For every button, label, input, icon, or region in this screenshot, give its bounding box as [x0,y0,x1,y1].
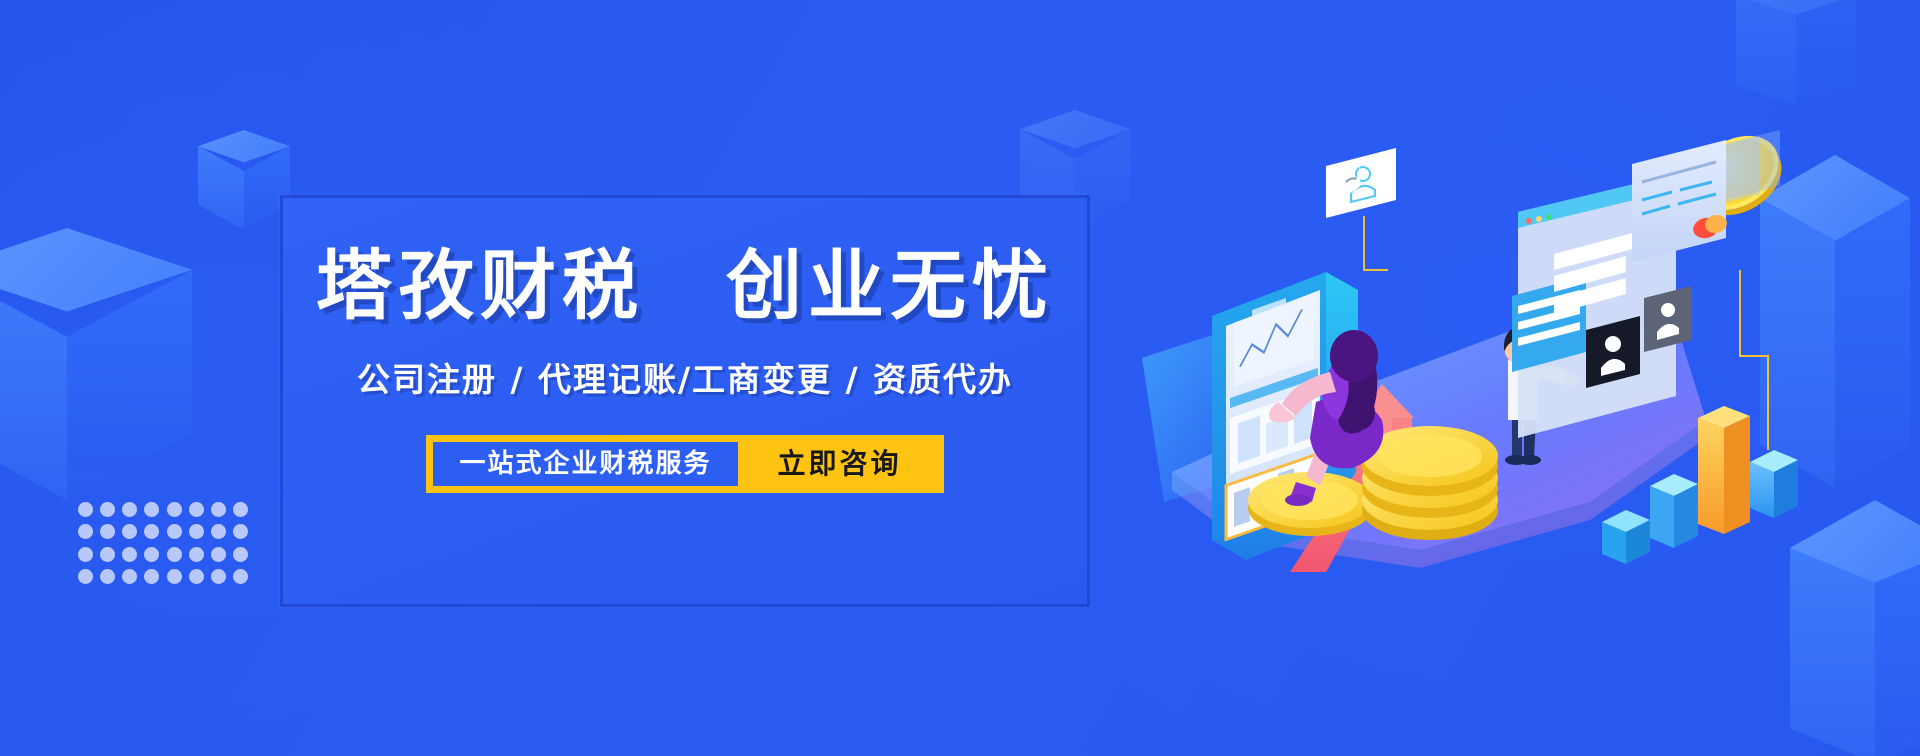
business-illustration [1120,120,1840,580]
service-list-subtitle: 公司注册 / 代理记账/工商变更 / 资质代办 [357,353,1013,401]
cta-bar[interactable]: 一站式企业财税服务 立即咨询 [426,435,943,493]
consult-now-button[interactable]: 立即咨询 [738,442,936,486]
credit-card [1632,130,1780,262]
cta-tag-label: 一站式企业财税服务 [433,442,737,486]
dot-grid-decoration [74,498,252,588]
headline-panel: 塔孜财税 创业无忧 公司注册 / 代理记账/工商变更 / 资质代办 一站式企业财… [280,195,1090,607]
isometric-cube-small-icon [198,130,290,238]
isometric-cube-sliver-icon [1736,0,1856,110]
profile-card [1326,148,1396,218]
page-title: 塔孜财税 创业无忧 [316,246,1054,327]
isometric-cube-left-icon [0,228,192,528]
promo-banner: 塔孜财税 创业无忧 公司注册 / 代理记账/工商变更 / 资质代办 一站式企业财… [0,0,1920,756]
